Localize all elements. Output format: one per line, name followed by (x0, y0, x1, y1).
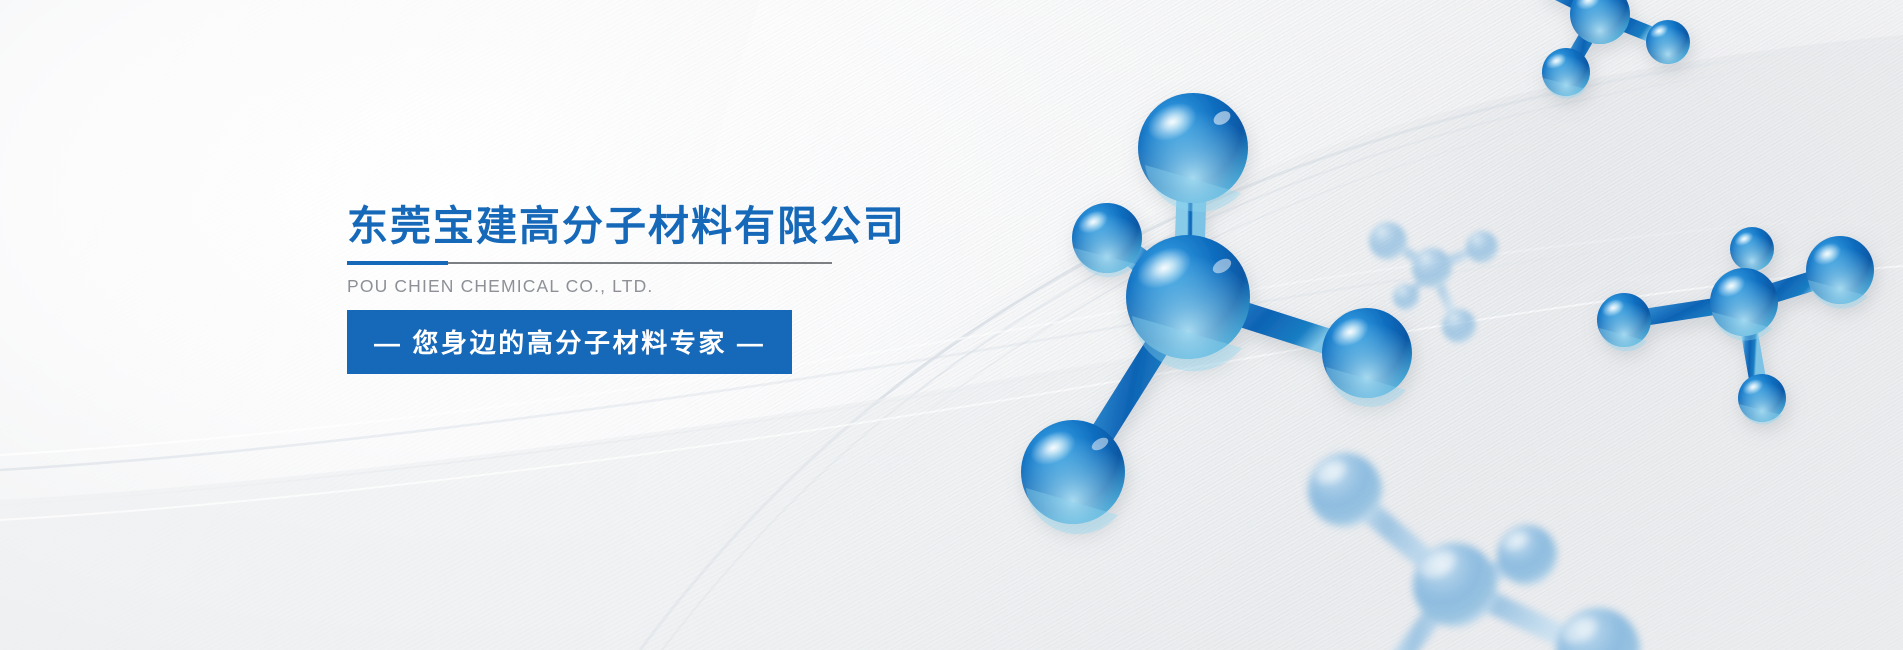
atom-sphere (1597, 293, 1651, 351)
atom-sphere (1412, 248, 1452, 288)
molecule-main (1021, 93, 1412, 534)
atom-sphere (1442, 309, 1476, 343)
company-subtitle-en: POU CHIEN CHEMICAL CO., LTD. (347, 276, 867, 297)
tagline-badge: — 您身边的高分子材料专家 — (347, 310, 792, 374)
atom-sphere (1556, 608, 1640, 650)
atom-sphere (1497, 525, 1557, 585)
atom-sphere (1710, 268, 1778, 341)
atom-sphere (1021, 420, 1125, 534)
atom-sphere (1072, 203, 1142, 277)
atom-sphere (1730, 227, 1774, 271)
atom-sphere (1308, 453, 1382, 527)
background-swoosh-curves (0, 0, 1903, 650)
molecule-right (1597, 227, 1874, 425)
company-title-cn: 东莞宝建高分子材料有限公司 (347, 205, 867, 248)
tagline-text: — 您身边的高分子材料专家 — (374, 328, 765, 358)
molecule-top-right (1542, 0, 1690, 99)
atom-sphere (1570, 0, 1630, 44)
hero-banner: 东莞宝建高分子材料有限公司 POU CHIEN CHEMICAL CO., LT… (0, 0, 1903, 650)
title-divider (347, 262, 832, 264)
atom-sphere (1738, 374, 1786, 425)
atom-sphere (1466, 231, 1498, 263)
molecule-small-center (1369, 222, 1498, 343)
atom-sphere (1806, 236, 1874, 309)
atom-sphere (1542, 48, 1590, 99)
atom-sphere (1322, 308, 1412, 407)
atom-sphere (1413, 543, 1497, 627)
diagonal-texture-secondary (0, 0, 1903, 650)
atom-sphere (1369, 222, 1407, 260)
diagonal-texture-primary (0, 0, 1903, 650)
branding-block: 东莞宝建高分子材料有限公司 POU CHIEN CHEMICAL CO., LT… (347, 205, 867, 374)
molecule-artwork (0, 0, 1903, 650)
atom-sphere (1138, 93, 1248, 212)
molecule-bottom-faded (1308, 453, 1640, 650)
atom-sphere (1646, 20, 1690, 64)
atom-sphere (1126, 235, 1250, 371)
atom-sphere (1393, 284, 1419, 310)
